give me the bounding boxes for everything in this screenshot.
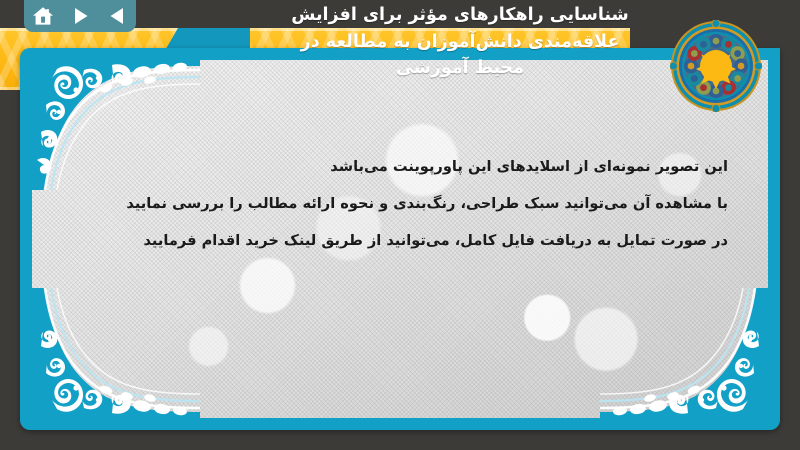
slide-navigation-bar	[24, 0, 136, 32]
arabesque-corner-ornament-bottom-right	[600, 288, 768, 418]
body-line-2: با مشاهده آن می‌توانید سبک طراحی، رنگ‌بن…	[92, 185, 728, 222]
slide-body-text: این تصویر نمونه‌ای از اسلایدهای این پاور…	[92, 148, 728, 259]
triangle-right-icon	[72, 7, 89, 25]
arabesque-corner-ornament-bottom-left	[32, 288, 200, 418]
slide-title-line-1: شناسایی راهکارهای مؤثر برای افزایش	[250, 2, 670, 29]
previous-slide-button[interactable]	[102, 3, 132, 29]
home-icon	[32, 6, 54, 26]
persian-medallion-ornament	[670, 20, 762, 112]
next-slide-button[interactable]	[65, 3, 95, 29]
presentation-slide: شناسایی راهکارهای مؤثر برای افزایش علاقه…	[0, 0, 800, 450]
home-button[interactable]	[28, 3, 58, 29]
content-canvas: این تصویر نمونه‌ای از اسلایدهای این پاور…	[32, 60, 768, 418]
triangle-left-icon	[109, 7, 126, 25]
body-line-3: در صورت تمایل به دریافت فایل کامل، می‌تو…	[92, 222, 728, 259]
slide-title: شناسایی راهکارهای مؤثر برای افزایش علاقه…	[250, 2, 670, 82]
slide-title-line-3: محیط آموزشی	[250, 55, 670, 82]
body-line-1: این تصویر نمونه‌ای از اسلایدهای این پاور…	[92, 148, 728, 185]
content-frame: این تصویر نمونه‌ای از اسلایدهای این پاور…	[20, 48, 780, 430]
slide-title-line-2: علاقه‌مندی دانش‌آموزان به مطالعه در	[250, 29, 670, 56]
